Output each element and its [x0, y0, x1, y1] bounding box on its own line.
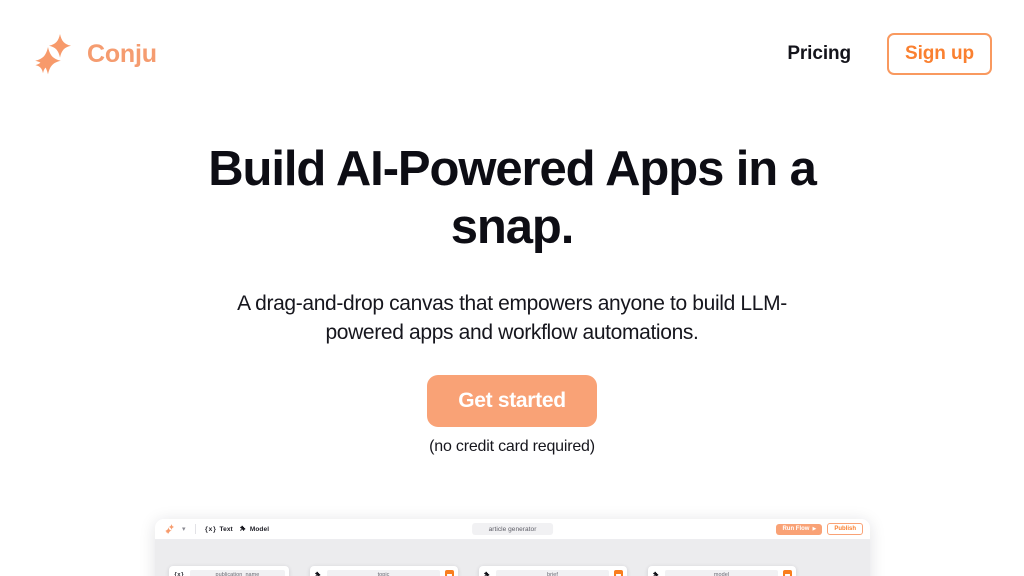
mockup-toolbar-left: ▾ {x} Text Model [164, 523, 269, 535]
node-badge-icon[interactable] [783, 570, 792, 576]
sparkles-icon[interactable] [164, 523, 176, 535]
flow-title-pill[interactable]: article generator [472, 523, 554, 535]
chevron-down-icon[interactable]: ▾ [182, 526, 186, 533]
flow-node-field[interactable]: publication_name [190, 570, 285, 576]
node-badge-icon[interactable] [445, 570, 454, 576]
flow-canvas[interactable]: {x} publication_name topic brief [155, 540, 870, 576]
braces-icon: {x} [173, 571, 185, 576]
sparkles-icon [30, 30, 78, 78]
hero-cta-group: Get started (no credit card required) [0, 375, 1024, 456]
flow-node-row: {x} publication_name topic brief [155, 566, 870, 576]
puzzle-icon [314, 571, 322, 576]
flow-node-field[interactable]: brief [496, 570, 609, 576]
mockup-toolbar: ▾ {x} Text Model article generator Run F… [155, 519, 870, 540]
toolbar-divider [195, 524, 196, 534]
header-nav: Pricing Sign up [787, 33, 992, 75]
brand-logo[interactable]: Conju [30, 30, 157, 78]
publish-button[interactable]: Publish [827, 523, 863, 535]
toolbar-item-model[interactable]: Model [239, 525, 269, 533]
brand-name: Conju [87, 42, 157, 67]
nav-link-pricing[interactable]: Pricing [787, 43, 851, 65]
run-flow-label: Run Flow [782, 526, 809, 532]
toolbar-item-model-label: Model [250, 526, 269, 533]
flow-node-field[interactable]: topic [327, 570, 440, 576]
puzzle-icon [652, 571, 660, 576]
hero-section: Build AI-Powered Apps in a snap. A drag-… [0, 108, 1024, 456]
app-preview-mockup: ▾ {x} Text Model article generator Run F… [155, 519, 870, 576]
page-title: Build AI-Powered Apps in a snap. [192, 140, 832, 257]
puzzle-icon [239, 525, 247, 533]
get-started-button[interactable]: Get started [427, 375, 597, 427]
play-icon: ▶ [812, 527, 816, 532]
run-flow-button[interactable]: Run Flow ▶ [776, 524, 822, 535]
site-header: Conju Pricing Sign up [0, 0, 1024, 108]
toolbar-item-text[interactable]: {x} Text [205, 526, 233, 533]
hero-subtitle: A drag-and-drop canvas that empowers any… [199, 290, 825, 348]
cta-note: (no credit card required) [429, 438, 595, 456]
braces-icon: {x} [205, 526, 217, 533]
flow-node[interactable]: model [648, 566, 796, 576]
puzzle-icon [483, 571, 491, 576]
toolbar-item-text-label: Text [220, 526, 233, 533]
node-badge-icon[interactable] [614, 570, 623, 576]
flow-node-field[interactable]: model [665, 570, 778, 576]
flow-node[interactable]: topic [310, 566, 458, 576]
sign-up-button[interactable]: Sign up [887, 33, 992, 75]
mockup-toolbar-right: Run Flow ▶ Publish [776, 523, 863, 535]
flow-node[interactable]: brief [479, 566, 627, 576]
flow-node[interactable]: {x} publication_name [169, 566, 289, 576]
